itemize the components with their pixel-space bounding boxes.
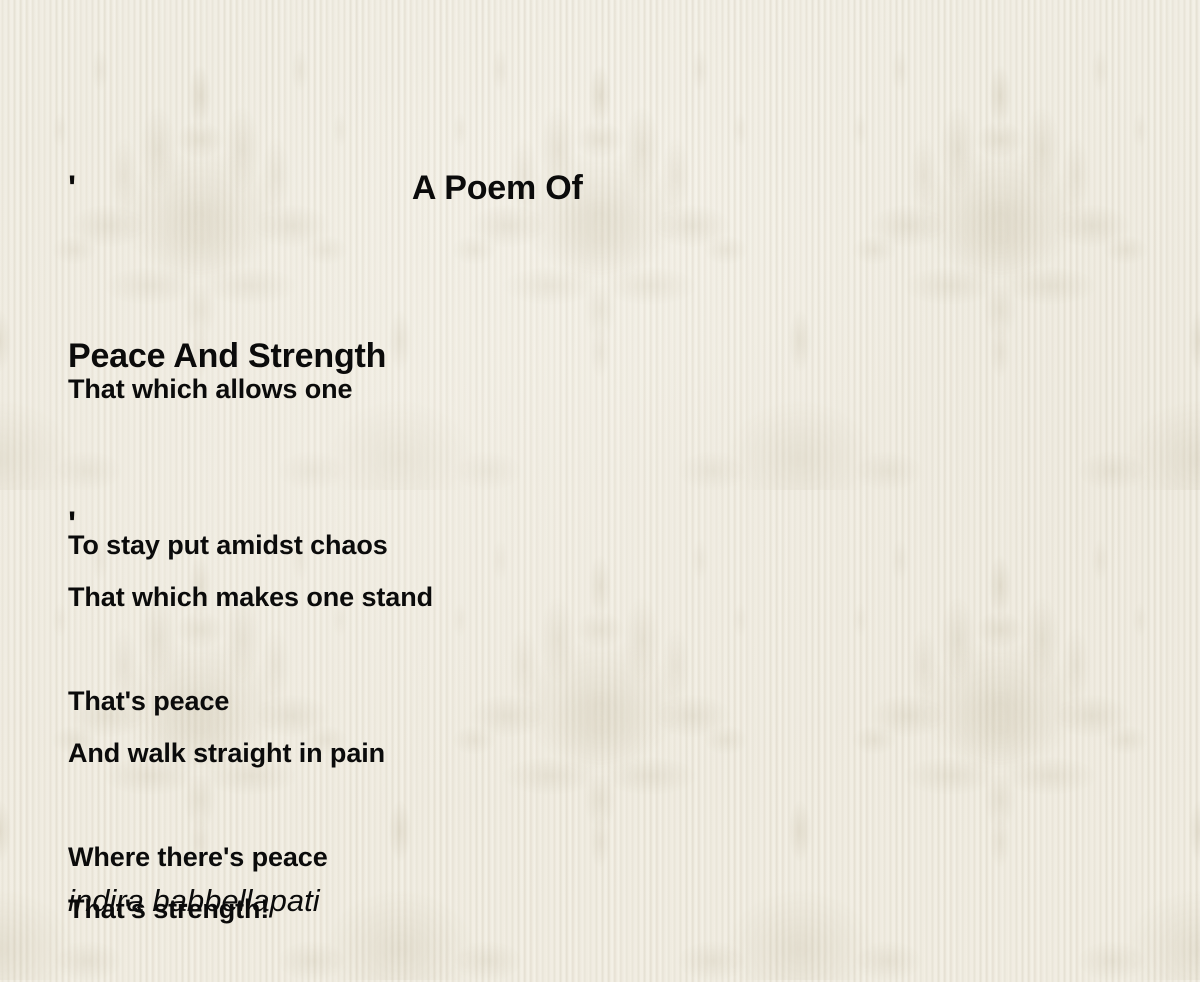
poem-line: Where there's peace (68, 831, 328, 883)
poem-page: 'A Poem Of Peace And Strength ' That whi… (0, 0, 1200, 982)
title-open-quote: ' (68, 169, 76, 207)
author-name: indira babbellapati (68, 880, 320, 922)
poem-stanza: Where there's peace There lies strength! (68, 727, 328, 982)
title-line-one: 'A Poem Of (68, 160, 1128, 216)
poem-line: That which makes one stand (68, 571, 433, 623)
poem-line: That which allows one (68, 363, 388, 415)
title-text-primary: A Poem Of (412, 169, 583, 207)
